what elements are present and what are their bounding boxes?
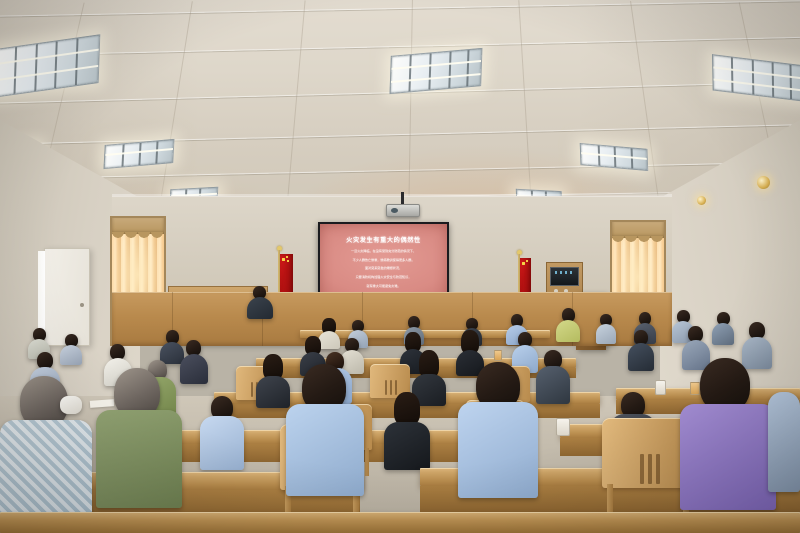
attendee [256, 354, 290, 402]
attendee [556, 308, 580, 338]
chair-slat [251, 382, 253, 397]
attendee [712, 312, 734, 342]
attendee-torso [96, 410, 182, 508]
ceiling-light-fixture [390, 48, 483, 94]
wall-sconce [757, 176, 770, 189]
presenter [246, 286, 274, 316]
conference-room-photo: 火灾发生有重大的偶然性 一旦火灾降临，在没有受到充分防范的情况下， 不少人群伤亡… [0, 0, 800, 533]
attendee-torso [200, 416, 244, 470]
chair-slat [656, 454, 660, 484]
flag-star [286, 256, 288, 258]
attendee-with-face-mask [60, 396, 86, 418]
wall-sconce [697, 196, 706, 205]
projector-lens [391, 208, 398, 213]
attendee [596, 314, 616, 340]
front-bench-edge [0, 512, 800, 533]
flag-star [282, 258, 285, 261]
attendee [628, 330, 654, 368]
tea-cup [494, 350, 502, 361]
tea-cup-lidded [655, 380, 666, 395]
attendee [536, 350, 570, 402]
chair-slat [640, 454, 644, 484]
presenter-torso [247, 297, 273, 319]
tea-cup-lidded [556, 418, 570, 436]
status-led [570, 271, 572, 274]
slide-title: 火灾发生有重大的偶然性 [346, 235, 421, 244]
attendee-torso [384, 422, 430, 470]
cornice [112, 194, 672, 197]
status-led [555, 271, 557, 274]
attendee-torso [536, 366, 570, 404]
attendee-torso [458, 402, 538, 498]
flag-star [526, 260, 528, 262]
attendee-torso [768, 392, 800, 492]
status-led [560, 271, 562, 274]
attendee-torso [712, 323, 734, 345]
room-door[interactable] [44, 248, 90, 346]
slide-line: 面对突来突发的爆燃状况， [351, 266, 416, 272]
attendee-torso [680, 404, 776, 510]
slide-line: 就有重大可能避免灾难。 [351, 284, 416, 290]
attendee [180, 340, 208, 382]
door-gap-light [38, 251, 45, 339]
attendee-torso [286, 404, 364, 496]
attendee-foreground-purple-shirt [680, 358, 776, 506]
attendee-torso [60, 345, 82, 365]
attendee-far-right [768, 372, 800, 492]
attendee-torso [180, 354, 208, 384]
attendee-torso [256, 376, 290, 408]
status-led [565, 271, 567, 274]
door-knob[interactable] [80, 303, 84, 307]
flag-star [287, 260, 289, 262]
attendee-foreground-green-shirt [96, 368, 182, 508]
chair-leg [365, 448, 369, 476]
attendee-foreground-blue-shirt [458, 362, 538, 496]
attendee [60, 334, 82, 362]
slide-line: 不少人群伤亡惨重，惨痛教训使得更多人群。 [351, 258, 416, 264]
attendee [384, 392, 430, 466]
flag-star [522, 262, 525, 265]
av-panel [550, 267, 579, 286]
attendee-foreground-center [286, 364, 364, 494]
attendee-hair [394, 392, 420, 426]
attendee-torso [596, 324, 616, 344]
ceiling-projector [386, 204, 420, 217]
chair-slat [648, 454, 652, 484]
attendee-torso [628, 343, 654, 371]
slide-line: 一旦火灾降临，在没有受到充分防范的情况下， [351, 249, 416, 255]
slide-line: 只要消防机构加强火灾安全与防范知识， [351, 275, 416, 281]
attendee-torso [556, 320, 580, 342]
face-mask [60, 396, 82, 414]
attendee [200, 396, 244, 466]
